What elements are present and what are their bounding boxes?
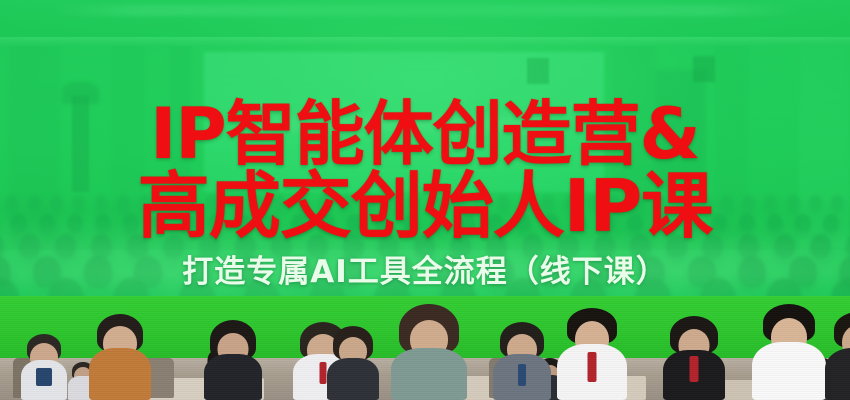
attendee xyxy=(21,334,67,400)
attendee xyxy=(663,316,725,400)
attendee xyxy=(327,326,379,400)
attendees-photo-strip xyxy=(0,296,850,400)
attendee xyxy=(825,312,850,400)
green-tint-layer xyxy=(0,0,850,306)
conference-hall-background xyxy=(0,0,850,306)
attendee xyxy=(391,304,467,400)
attendee xyxy=(493,322,551,400)
attendee xyxy=(557,308,627,400)
attendee xyxy=(204,320,262,400)
attendee xyxy=(89,314,151,400)
attendee xyxy=(752,304,826,400)
course-promo-banner: IP智能体创造营& 高成交创始人IP课 打造专属AI工具全流程（线下课） xyxy=(0,0,850,400)
